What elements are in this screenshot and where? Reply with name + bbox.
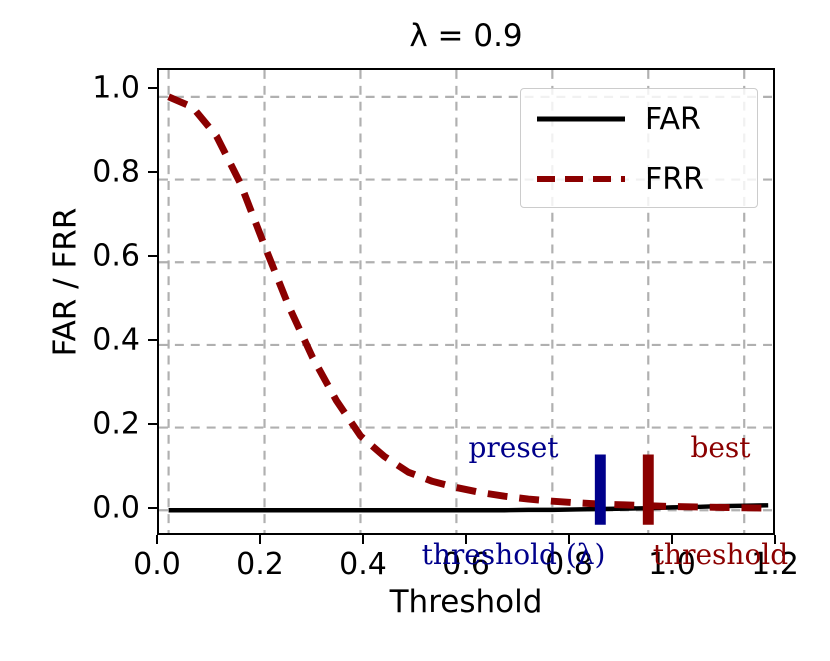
xtick-mark — [156, 535, 158, 544]
ytick-mark — [148, 507, 157, 509]
chart-figure: λ = 0.9 0.0 0.2 0.4 0.6 0.8 1.0 1.2 0.0 … — [0, 0, 830, 661]
xtick-mark — [259, 535, 261, 544]
xtick-label-2: 0.4 — [339, 547, 387, 582]
ytick-mark — [148, 423, 157, 425]
legend-label-far: FAR — [645, 102, 701, 137]
ytick-mark — [148, 171, 157, 173]
legend-entry-far: FAR — [521, 89, 757, 149]
legend-line-solid-icon — [535, 106, 627, 132]
annotation-preset-line2: threshold (λ) — [406, 537, 621, 573]
legend[interactable]: FAR FRR — [520, 88, 758, 208]
ytick-mark — [148, 87, 157, 89]
legend-line-dashed-icon — [535, 166, 627, 192]
annotation-best-threshold: best threshold — [618, 358, 823, 645]
xtick-mark — [362, 535, 364, 544]
legend-label-frr: FRR — [645, 162, 704, 197]
annotation-best-line1: best — [618, 430, 823, 466]
chart-title: λ = 0.9 — [157, 18, 775, 54]
y-axis-label: FAR / FRR — [48, 49, 84, 516]
annotation-preset-line1: preset — [406, 430, 621, 466]
legend-entry-frr: FRR — [521, 149, 757, 209]
annotation-preset-threshold: preset threshold (λ) — [406, 358, 621, 645]
xtick-label-1: 0.2 — [236, 547, 284, 582]
ytick-mark — [148, 339, 157, 341]
xtick-label-0: 0.0 — [133, 547, 181, 582]
ytick-mark — [148, 255, 157, 257]
annotation-best-line2: threshold — [618, 537, 823, 573]
